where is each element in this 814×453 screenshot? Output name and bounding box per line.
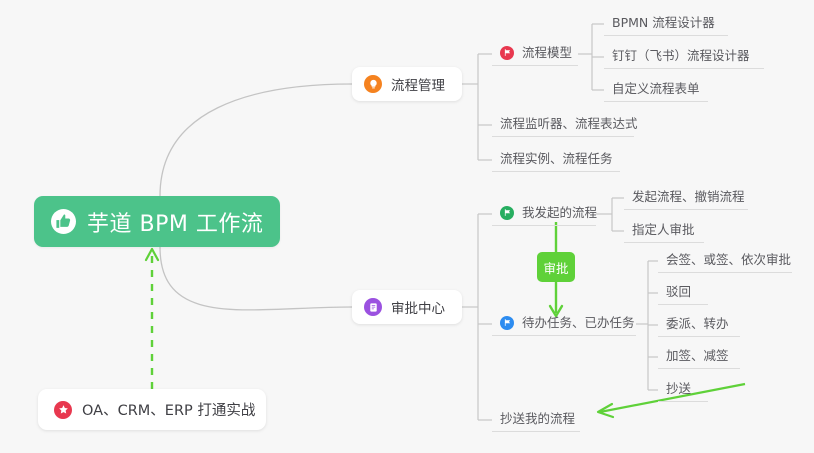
leaf-label-start-cancel: 发起流程、撤销流程 (632, 188, 745, 206)
leaf-label-assignee-approve: 指定人审批 (632, 221, 695, 239)
leaf-custom-form[interactable]: 自定义流程表单 (604, 80, 708, 102)
leaf-reject[interactable]: 驳回 (658, 283, 708, 305)
leaf-flow-listener[interactable]: 流程监听器、流程表达式 (492, 115, 634, 137)
leaf-label-dingtalk-designer: 钉钉（飞书）流程设计器 (612, 47, 750, 65)
leaf-label-cc: 抄送 (666, 380, 691, 398)
mindmap-canvas: 芋道 BPM 工作流 流程管理 审批中心 流程 (0, 0, 814, 453)
leaf-label-flow-instance: 流程实例、流程任务 (500, 150, 613, 168)
callout-approve-label: 审批 (543, 258, 568, 277)
branch-node-approval-center[interactable]: 审批中心 (352, 290, 462, 324)
leaf-my-initiated[interactable]: 我发起的流程 (492, 204, 596, 226)
link-root-to-approval-center (160, 247, 352, 310)
leaf-label-reject: 驳回 (666, 283, 691, 301)
arrowhead-cc-to-cc-to-me (598, 404, 613, 417)
leaf-label-delegate-transfer: 委派、转办 (666, 315, 729, 333)
arrowhead-note-to-root (146, 249, 158, 260)
clipboard-icon (364, 298, 382, 316)
leaf-label-multi-sign: 会签、或签、依次审批 (666, 251, 791, 269)
thumbs-up-icon (51, 209, 76, 234)
leaf-start-cancel[interactable]: 发起流程、撤销流程 (624, 188, 748, 210)
lightbulb-icon (364, 75, 382, 93)
leaf-dingtalk-designer[interactable]: 钉钉（飞书）流程设计器 (604, 47, 764, 69)
note-label-integration: OA、CRM、ERP 打通实战 (82, 399, 255, 420)
flag-icon (500, 206, 514, 220)
branch-label-flow-management: 流程管理 (391, 74, 445, 94)
callout-approve[interactable]: 审批 (537, 252, 575, 282)
branch-label-approval-center: 审批中心 (391, 297, 445, 317)
leaf-add-remove-sign[interactable]: 加签、减签 (658, 347, 740, 369)
leaf-label-custom-form: 自定义流程表单 (612, 80, 700, 98)
leaf-todo-done[interactable]: 待办任务、已办任务 (492, 314, 636, 336)
leaf-label-flow-listener: 流程监听器、流程表达式 (500, 115, 638, 133)
leaf-label-add-remove-sign: 加签、减签 (666, 347, 729, 365)
leaf-bpmn-designer[interactable]: BPMN 流程设计器 (604, 14, 728, 36)
note-node-integration[interactable]: OA、CRM、ERP 打通实战 (38, 389, 266, 430)
star-icon (54, 401, 72, 419)
flag-icon (500, 46, 514, 60)
leaf-label-my-initiated: 我发起的流程 (522, 204, 597, 222)
root-node[interactable]: 芋道 BPM 工作流 (34, 196, 280, 247)
flag-icon (500, 316, 514, 330)
root-label: 芋道 BPM 工作流 (87, 206, 263, 238)
leaf-label-todo-done: 待办任务、已办任务 (522, 314, 635, 332)
leaf-label-cc-to-me: 抄送我的流程 (500, 410, 575, 428)
leaf-assignee-approve[interactable]: 指定人审批 (624, 221, 704, 243)
branch-node-flow-management[interactable]: 流程管理 (352, 67, 462, 101)
leaf-flow-model[interactable]: 流程模型 (492, 44, 578, 66)
leaf-label-bpmn-designer: BPMN 流程设计器 (612, 14, 715, 32)
leaf-flow-instance[interactable]: 流程实例、流程任务 (492, 150, 620, 172)
link-root-to-flow-management (160, 84, 352, 196)
leaf-cc[interactable]: 抄送 (658, 380, 708, 402)
leaf-cc-to-me[interactable]: 抄送我的流程 (492, 410, 580, 432)
leaf-label-flow-model: 流程模型 (522, 44, 572, 62)
leaf-multi-sign[interactable]: 会签、或签、依次审批 (658, 251, 792, 273)
leaf-delegate-transfer[interactable]: 委派、转办 (658, 315, 740, 337)
